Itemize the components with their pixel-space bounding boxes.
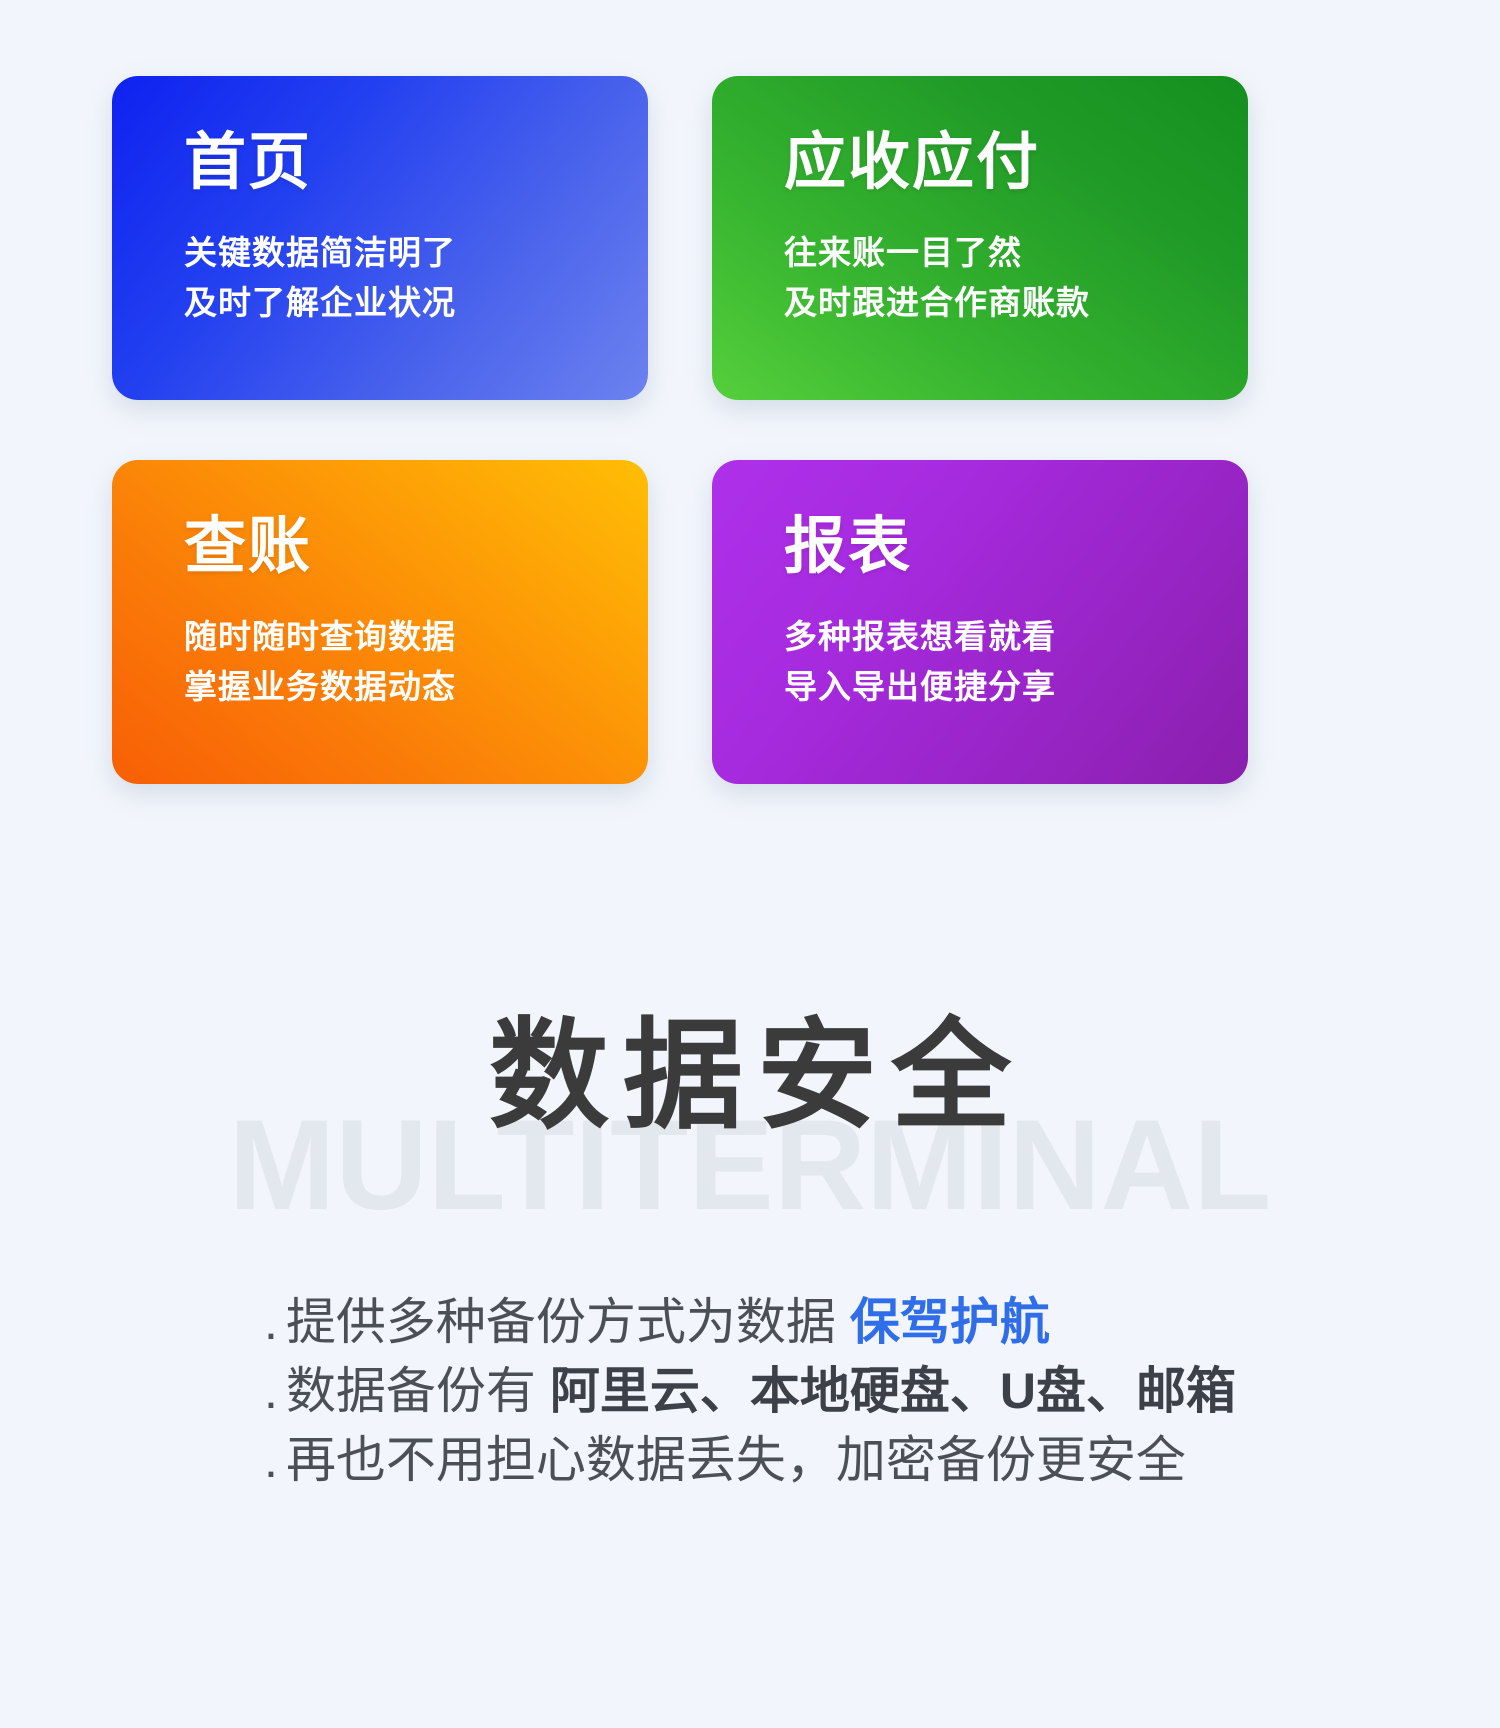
card-subtitle-report: 多种报表想看就看 导入导出便捷分享 — [784, 612, 1248, 712]
feature-card-home[interactable]: 首页 关键数据简洁明了 及时了解企业状况 — [112, 76, 648, 400]
security-point-row: . 再也不用担心数据丢失，加密备份更安全 — [264, 1426, 1236, 1495]
card-subtitle-home: 关键数据简洁明了 及时了解企业状况 — [184, 228, 648, 328]
security-point-row: . 数据备份有 阿里云、本地硬盘、U盘、邮箱 — [264, 1357, 1236, 1426]
card-subtitle-check-account: 随时随时查询数据 掌握业务数据动态 — [184, 612, 648, 712]
feature-card-grid: 首页 关键数据简洁明了 及时了解企业状况 应收应付 往来账一目了然 及时跟进合作… — [112, 76, 1248, 784]
card-subtitle-report-line1: 多种报表想看就看 — [784, 612, 1248, 662]
security-point-text: 提供多种备份方式为数据 保驾护航 — [286, 1288, 1050, 1357]
card-subtitle-report-line2: 导入导出便捷分享 — [784, 662, 1248, 712]
card-subtitle-home-line2: 及时了解企业状况 — [184, 278, 648, 328]
card-title-report: 报表 — [784, 516, 1248, 578]
bullet-dot-icon: . — [264, 1435, 278, 1485]
bullet-dot-icon: . — [264, 1297, 278, 1347]
security-point-highlight: 阿里云、本地硬盘、U盘、邮箱 — [550, 1363, 1236, 1419]
feature-card-report[interactable]: 报表 多种报表想看就看 导入导出便捷分享 — [712, 460, 1248, 784]
card-title-home: 首页 — [184, 132, 648, 194]
security-point-highlight: 保驾护航 — [850, 1294, 1050, 1350]
card-subtitle-home-line1: 关键数据简洁明了 — [184, 228, 648, 278]
feature-card-receivable-payable[interactable]: 应收应付 往来账一目了然 及时跟进合作商账款 — [712, 76, 1248, 400]
card-title-check-account: 查账 — [184, 516, 648, 578]
security-point-text: 数据备份有 阿里云、本地硬盘、U盘、邮箱 — [286, 1357, 1236, 1426]
bullet-dot-icon: . — [264, 1366, 278, 1416]
security-point-plain: 再也不用担心数据丢失，加密备份更安全 — [286, 1432, 1186, 1488]
security-point-plain: 数据备份有 — [286, 1363, 550, 1419]
card-subtitle-check-account-line1: 随时随时查询数据 — [184, 612, 648, 662]
card-subtitle-check-account-line2: 掌握业务数据动态 — [184, 662, 648, 712]
card-subtitle-receivable-payable: 往来账一目了然 及时跟进合作商账款 — [784, 228, 1248, 328]
card-subtitle-receivable-payable-line1: 往来账一目了然 — [784, 228, 1248, 278]
security-title: 数据安全 — [0, 1016, 1500, 1136]
security-point-text: 再也不用担心数据丢失，加密备份更安全 — [286, 1426, 1186, 1495]
card-subtitle-receivable-payable-line2: 及时跟进合作商账款 — [784, 278, 1248, 328]
security-point-row: . 提供多种备份方式为数据 保驾护航 — [264, 1288, 1236, 1357]
security-headline-wrap: MULTITERMINAL 数据安全 — [0, 980, 1500, 1280]
security-point-plain: 提供多种备份方式为数据 — [286, 1294, 850, 1350]
card-title-receivable-payable: 应收应付 — [784, 132, 1248, 194]
feature-card-check-account[interactable]: 查账 随时随时查询数据 掌握业务数据动态 — [112, 460, 648, 784]
security-points-list: . 提供多种备份方式为数据 保驾护航 . 数据备份有 阿里云、本地硬盘、U盘、邮… — [264, 1288, 1236, 1495]
data-security-section: MULTITERMINAL 数据安全 . 提供多种备份方式为数据 保驾护航 . … — [0, 980, 1500, 1495]
